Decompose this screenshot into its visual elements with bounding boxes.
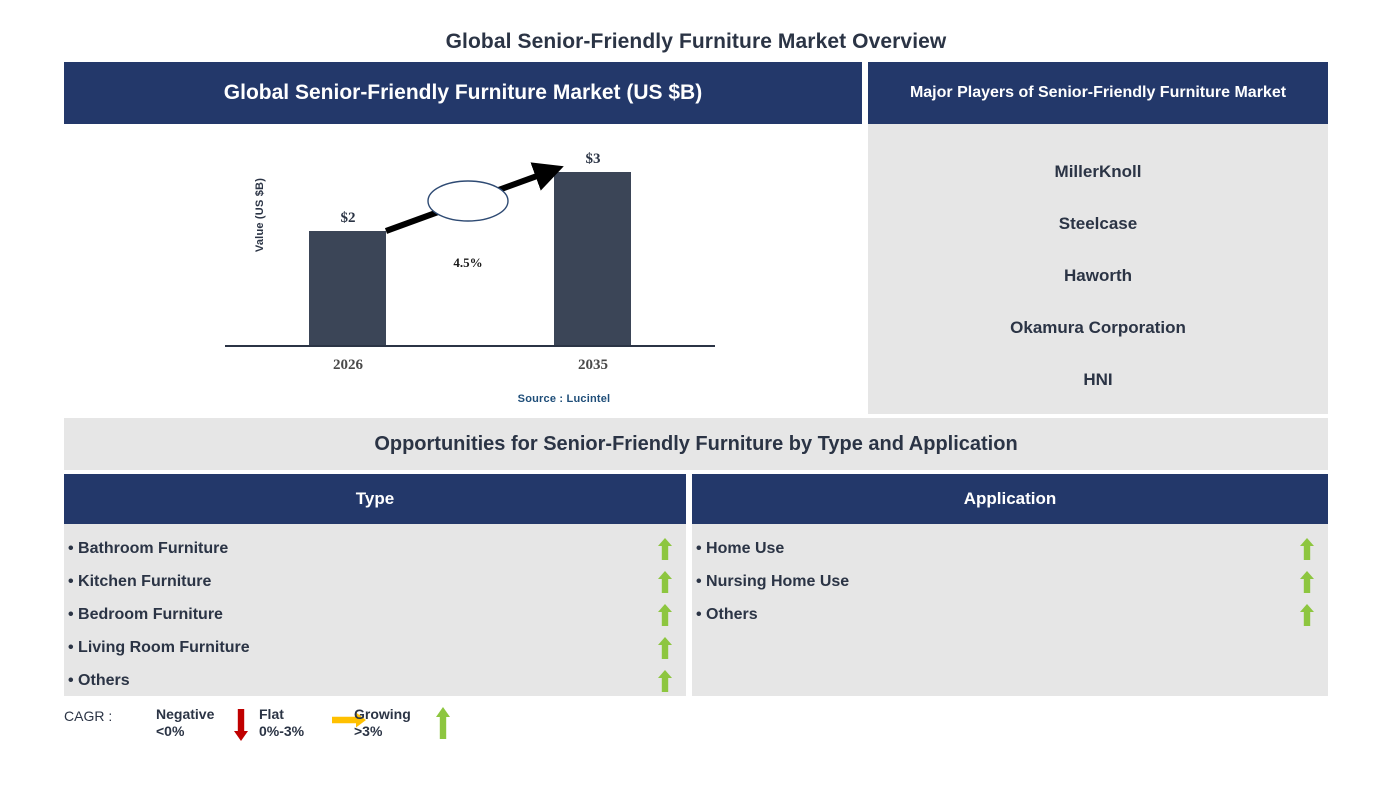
market-chart-panel: Global Senior-Friendly Furniture Market … bbox=[64, 62, 862, 414]
list-item-label: • Bathroom Furniture bbox=[68, 540, 658, 558]
list-item: Haworth bbox=[868, 250, 1328, 302]
opportunities-band-title: Opportunities for Senior-Friendly Furnit… bbox=[64, 418, 1328, 470]
list-item: • Bedroom Furniture bbox=[64, 598, 686, 631]
list-item: • Others bbox=[692, 598, 1328, 631]
list-item: • Living Room Furniture bbox=[64, 631, 686, 664]
market-chart-body: Value (US $B) $2 $3 2026 2035 bbox=[64, 124, 862, 414]
major-players-list: MillerKnoll Steelcase Haworth Okamura Co… bbox=[868, 124, 1328, 414]
list-item: • Kitchen Furniture bbox=[64, 565, 686, 598]
major-players-panel: Major Players of Senior-Friendly Furnitu… bbox=[868, 62, 1328, 414]
list-item-label: • Others bbox=[696, 606, 1300, 624]
list-item-label: • Home Use bbox=[696, 540, 1300, 558]
list-item: HNI bbox=[868, 354, 1328, 406]
legend-item-title: Flat bbox=[259, 706, 304, 723]
arrow-up-icon bbox=[658, 604, 672, 626]
list-item: • Home Use bbox=[692, 532, 1328, 565]
list-item: • Nursing Home Use bbox=[692, 565, 1328, 598]
application-column-header: Application bbox=[692, 474, 1328, 524]
legend-item-title: Negative bbox=[156, 706, 214, 723]
legend-item-range: 0%-3% bbox=[259, 723, 304, 740]
cagr-legend: CAGR : Negative <0% Flat 0%-3% Growing >… bbox=[64, 706, 564, 754]
arrow-up-icon bbox=[1300, 571, 1314, 593]
list-item: Okamura Corporation bbox=[868, 302, 1328, 354]
list-item: MillerKnoll bbox=[868, 146, 1328, 198]
list-item-label: • Nursing Home Use bbox=[696, 573, 1300, 591]
arrow-up-icon bbox=[658, 637, 672, 659]
chart-source-label: Source : Lucintel bbox=[364, 393, 764, 405]
major-players-header: Major Players of Senior-Friendly Furnitu… bbox=[868, 62, 1328, 124]
list-item-label: • Bedroom Furniture bbox=[68, 606, 658, 624]
legend-item-range: >3% bbox=[354, 723, 411, 740]
legend-item-negative: Negative <0% bbox=[156, 706, 214, 740]
legend-item-growing: Growing >3% bbox=[354, 706, 411, 740]
arrow-up-icon bbox=[658, 571, 672, 593]
arrow-up-icon bbox=[1300, 604, 1314, 626]
list-item: • Others bbox=[64, 664, 686, 697]
market-chart-header: Global Senior-Friendly Furniture Market … bbox=[64, 62, 862, 124]
application-column-list: • Home Use • Nursing Home Use • Others bbox=[692, 524, 1328, 631]
list-item-label: • Kitchen Furniture bbox=[68, 573, 658, 591]
legend-item-title: Growing bbox=[354, 706, 411, 723]
list-item-label: • Others bbox=[68, 672, 658, 690]
list-item: • Bathroom Furniture bbox=[64, 532, 686, 565]
arrow-down-icon bbox=[234, 707, 248, 741]
arrow-up-icon bbox=[1300, 538, 1314, 560]
application-column: Application • Home Use • Nursing Home Us… bbox=[692, 474, 1328, 696]
arrow-up-icon bbox=[658, 538, 672, 560]
type-column-header: Type bbox=[64, 474, 686, 524]
list-item-label: • Living Room Furniture bbox=[68, 639, 658, 657]
list-item: Steelcase bbox=[868, 198, 1328, 250]
arrow-up-icon bbox=[658, 670, 672, 692]
arrow-up-icon bbox=[436, 707, 450, 741]
type-column: Type • Bathroom Furniture • Kitchen Furn… bbox=[64, 474, 686, 696]
legend-item-flat: Flat 0%-3% bbox=[259, 706, 304, 740]
cagr-legend-label: CAGR : bbox=[64, 708, 112, 724]
page-title: Global Senior-Friendly Furniture Market … bbox=[64, 30, 1328, 54]
type-column-list: • Bathroom Furniture • Kitchen Furniture… bbox=[64, 524, 686, 697]
cagr-value-label: 4.5% bbox=[428, 255, 508, 271]
slide-canvas: Global Senior-Friendly Furniture Market … bbox=[0, 0, 1393, 798]
legend-item-range: <0% bbox=[156, 723, 214, 740]
